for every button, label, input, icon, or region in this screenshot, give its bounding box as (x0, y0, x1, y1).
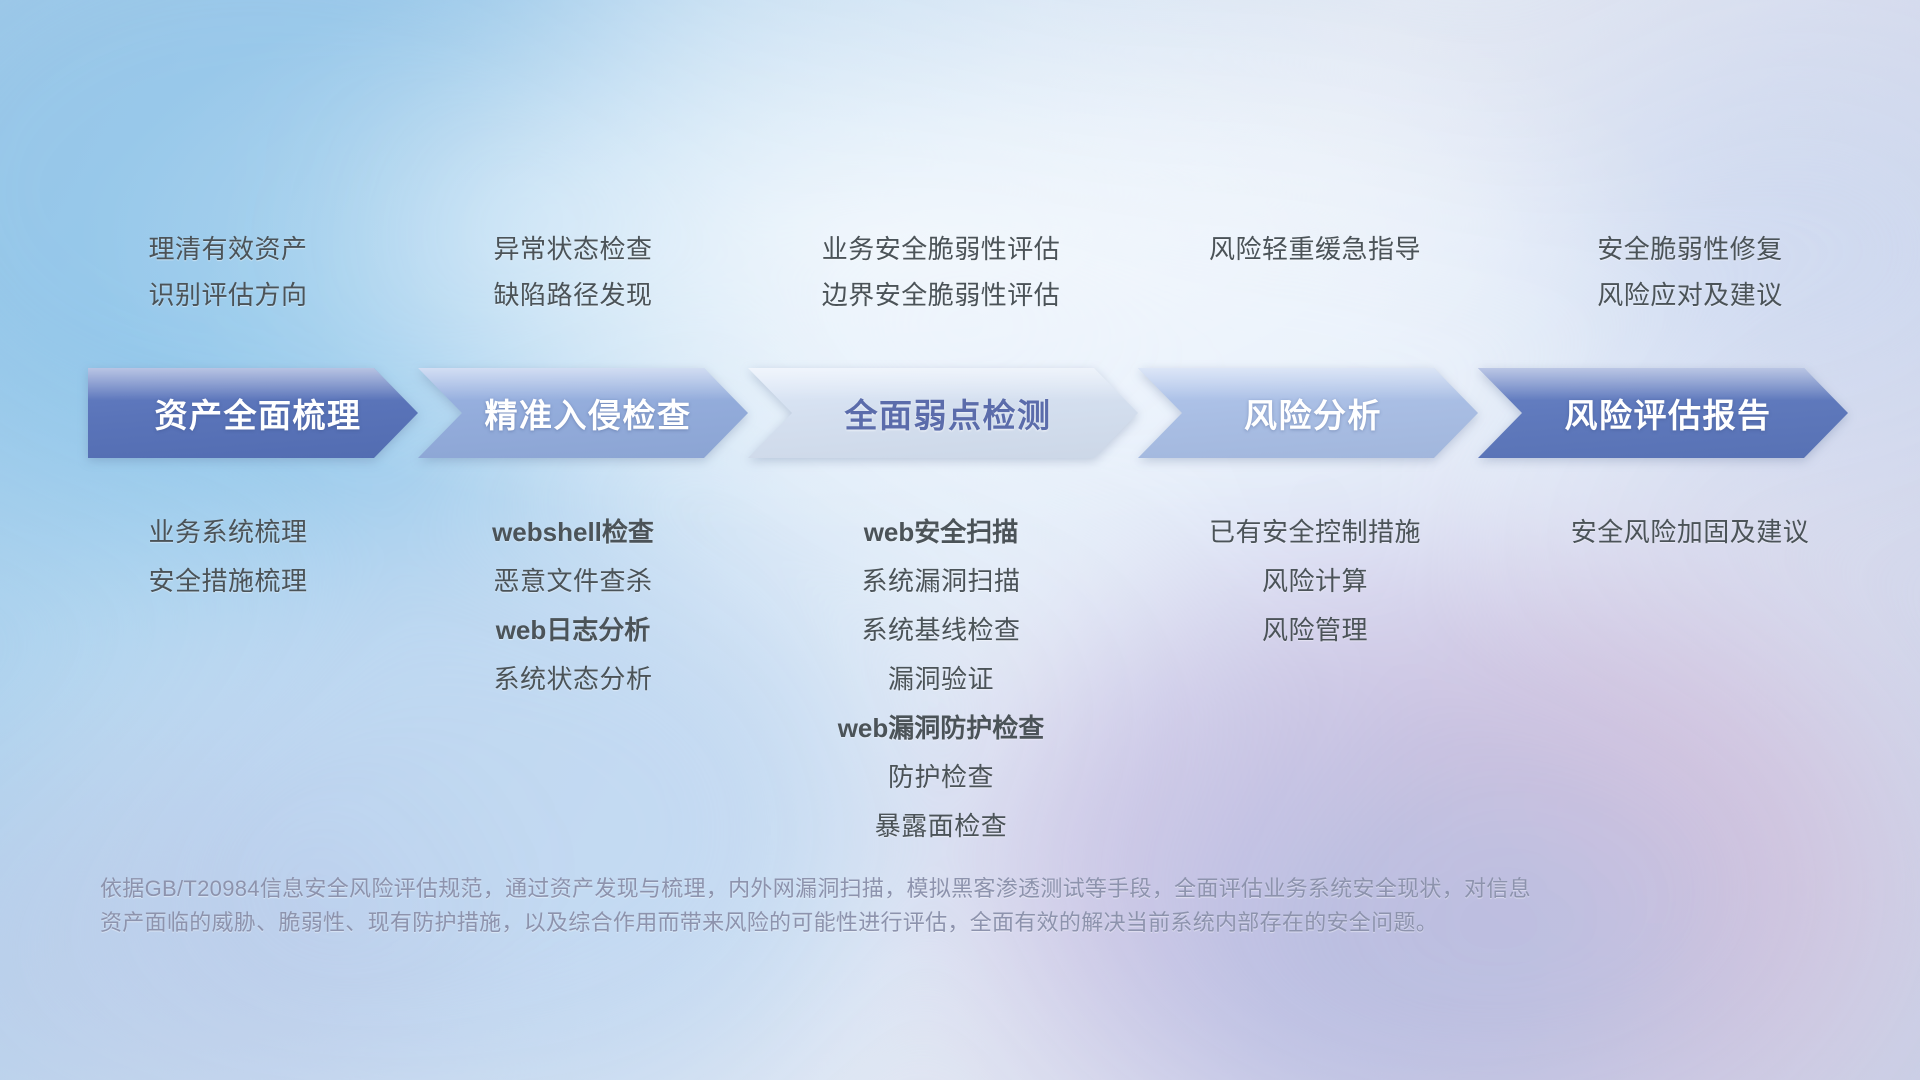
stage-activities-risk-assessment-report: 安全风险加固及建议 (1430, 508, 1920, 557)
stage-title: 资产全面梳理 (145, 389, 362, 437)
stage-title: 全面弱点检测 (835, 389, 1052, 437)
stage-outputs-risk-assessment-report: 安全脆弱性修复风险应对及建议 (1430, 226, 1920, 318)
output-item: 边界安全脆弱性评估 (681, 272, 1201, 318)
process-stage-intrusion-inspection[interactable]: 精准入侵检查 (418, 368, 748, 458)
activity-item: web漏洞防护检查 (681, 704, 1201, 753)
diagram-content: 理清有效资产识别评估方向异常状态检查缺陷路径发现业务安全脆弱性评估边界安全脆弱性… (0, 0, 1920, 1080)
footer-line-2: 资产面临的威胁、脆弱性、现有防护措施，以及综合作用而带来风险的可能性进行评估，全… (100, 906, 1720, 940)
activity-item: 风险管理 (1055, 606, 1575, 655)
stage-title: 精准入侵检查 (475, 389, 692, 437)
stage-title: 风险评估报告 (1555, 389, 1772, 437)
process-stage-asset-inventory[interactable]: 资产全面梳理 (88, 368, 418, 458)
output-item: 安全脆弱性修复 (1430, 226, 1920, 272)
activity-item: 安全风险加固及建议 (1430, 508, 1920, 557)
activity-item: 风险计算 (1055, 557, 1575, 606)
activity-item: 暴露面检查 (681, 802, 1201, 851)
process-stage-weakness-detection[interactable]: 全面弱点检测 (748, 368, 1138, 458)
activity-item: 防护检查 (681, 753, 1201, 802)
process-stage-risk-analysis[interactable]: 风险分析 (1138, 368, 1478, 458)
process-chevron-band: 资产全面梳理精准入侵检查全面弱点检测风险分析风险评估报告 (88, 368, 1848, 458)
footer-line-1: 依据GB/T20984信息安全风险评估规范，通过资产发现与梳理，内外网漏洞扫描，… (100, 872, 1720, 906)
stage-title: 风险分析 (1234, 389, 1382, 437)
slide-canvas: 理清有效资产识别评估方向异常状态检查缺陷路径发现业务安全脆弱性评估边界安全脆弱性… (0, 0, 1920, 1080)
footer-description: 依据GB/T20984信息安全风险评估规范，通过资产发现与梳理，内外网漏洞扫描，… (100, 872, 1720, 940)
activity-item: 漏洞验证 (681, 655, 1201, 704)
output-item: 风险应对及建议 (1430, 272, 1920, 318)
process-stage-risk-assessment-report[interactable]: 风险评估报告 (1478, 368, 1848, 458)
